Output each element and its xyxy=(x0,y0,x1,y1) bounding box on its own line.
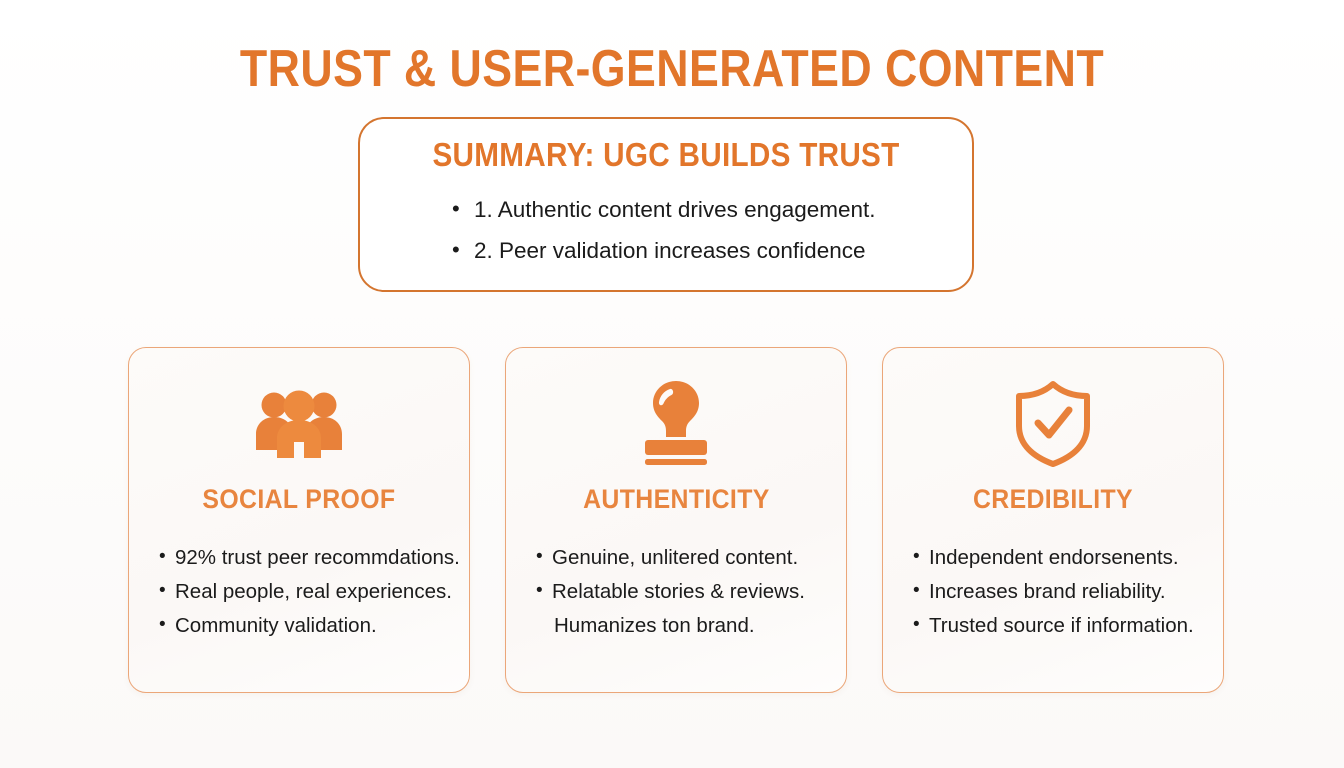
card-bullet-item: Humanizes ton brand. xyxy=(536,609,846,643)
rubber-stamp-icon xyxy=(637,376,715,472)
card-credibility[interactable]: CREDIBILITY Independent endorsenents. In… xyxy=(882,347,1224,693)
page-title: TRUST & USER-GENERATED CONTENT xyxy=(94,38,1250,100)
summary-heading: SUMMARY: UGC BUILDS TRUST xyxy=(391,136,942,174)
cards-row: SOCIAL PROOF 92% trust peer recommdation… xyxy=(128,347,1224,693)
card-bullet-list: Independent endorsenents. Increases bran… xyxy=(883,541,1223,643)
summary-bullet-item: 1. Authentic content drives engagement. xyxy=(452,192,972,228)
card-authenticity[interactable]: AUTHENTICITY Genuine, unlitered content.… xyxy=(505,347,847,693)
summary-bullet-item: 2. Peer validation increases confidence xyxy=(452,233,972,269)
card-title: CREDIBILITY xyxy=(973,484,1133,515)
card-bullet-item: Community validation. xyxy=(159,609,469,643)
people-group-icon xyxy=(253,376,345,472)
summary-bullet-list: 1. Authentic content drives engagement. … xyxy=(360,192,972,269)
shield-check-icon xyxy=(1012,376,1094,472)
card-bullet-item: Trusted source if information. xyxy=(913,609,1223,643)
card-bullet-item: Real people, real experiences. xyxy=(159,575,469,609)
card-social-proof[interactable]: SOCIAL PROOF 92% trust peer recommdation… xyxy=(128,347,470,693)
card-bullet-list: 92% trust peer recommdations. Real peopl… xyxy=(129,541,469,643)
card-title: SOCIAL PROOF xyxy=(202,484,395,515)
slide-canvas: TRUST & USER-GENERATED CONTENT SUMMARY: … xyxy=(0,0,1344,768)
card-bullet-item: 92% trust peer recommdations. xyxy=(159,541,469,575)
card-bullet-list: Genuine, unlitered content. Relatable st… xyxy=(506,541,846,643)
summary-box: SUMMARY: UGC BUILDS TRUST 1. Authentic c… xyxy=(358,117,974,292)
card-title: AUTHENTICITY xyxy=(583,484,770,515)
card-bullet-item: Independent endorsenents. xyxy=(913,541,1223,575)
card-bullet-item: Genuine, unlitered content. xyxy=(536,541,846,575)
card-bullet-item: Relatable stories & reviews. xyxy=(536,575,846,609)
card-bullet-item: Increases brand reliability. xyxy=(913,575,1223,609)
